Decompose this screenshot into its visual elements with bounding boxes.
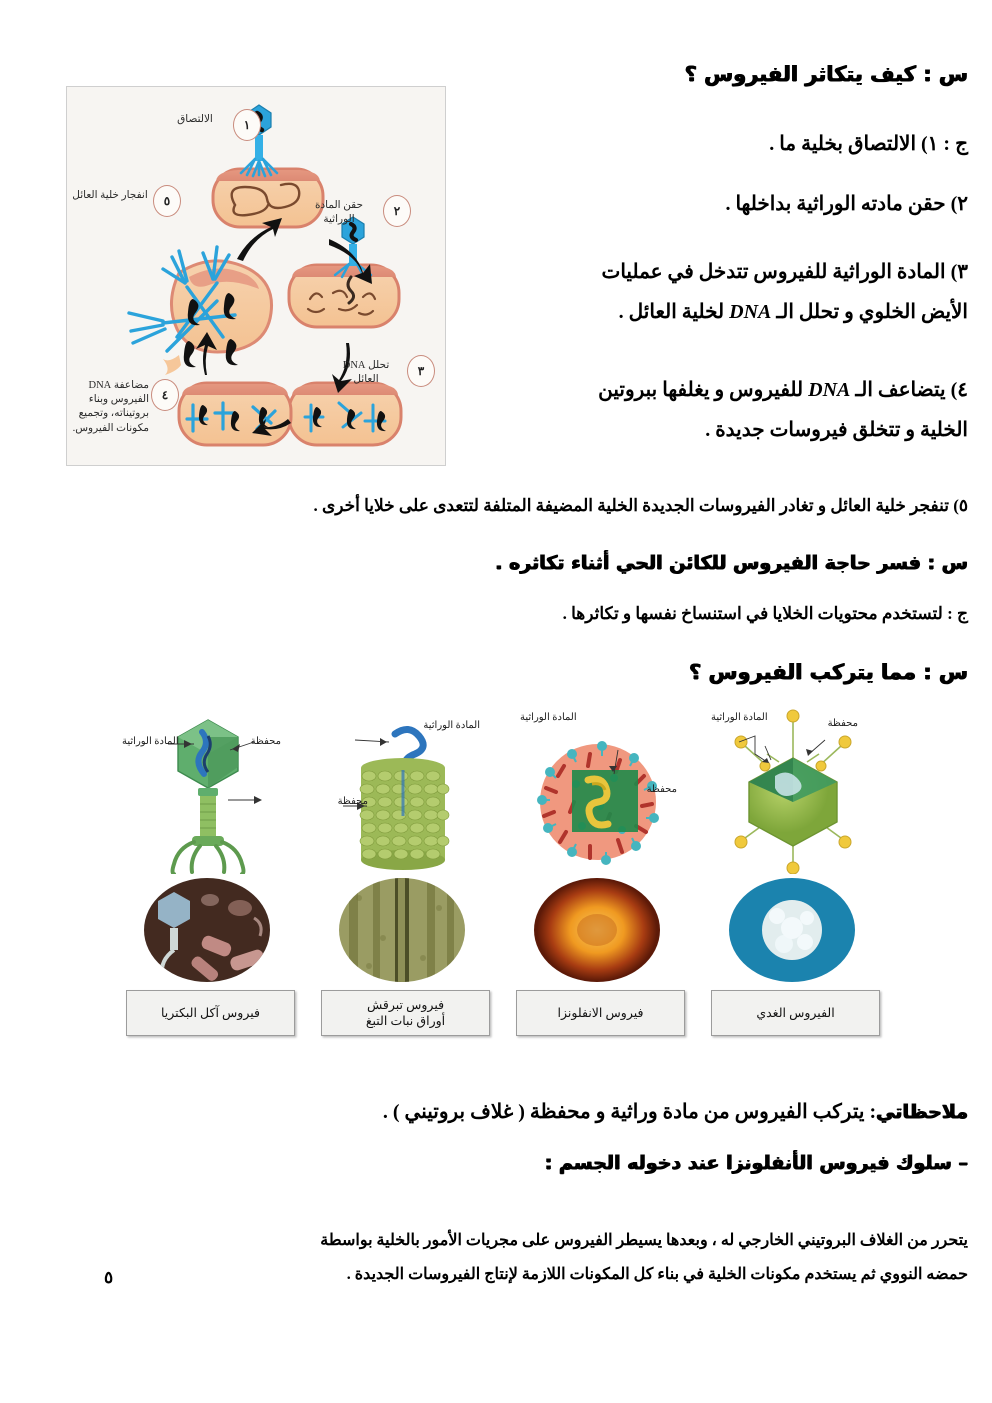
question-reproduction: س : كيف يتكاثر الفيروس ؟	[685, 62, 968, 86]
lytic-cycle-canvas: ١ الالتصاق ٢ حقن المادة الوراثية ٣ تحلل …	[67, 87, 445, 465]
stage-number-3: ٣	[407, 355, 435, 387]
question-need-host: س : فسر حاجة الفيروس للكائن الحي أثناء ت…	[495, 552, 968, 574]
stage-label-3: تحلل DNA العائل	[329, 359, 403, 387]
page-number: ٥	[104, 1268, 113, 1288]
stage-number-5: ٥	[153, 185, 181, 217]
bacteriophage-label-capsid: محفظة	[251, 736, 281, 747]
step4-line1-tail: للفيروس و يغلفها ببروتين	[598, 379, 808, 401]
influenza-photo-svg	[534, 878, 660, 982]
tmv-caption: فيروس تبرقش أوراق نبات التبغ	[321, 990, 490, 1036]
stage-label-4: مضاعفة DNA الفيروس وبناء بروتيناته، وتجم…	[69, 379, 149, 436]
step4-line1-head: ٤) يتضاعف الـ	[850, 379, 968, 401]
stage-label-2: حقن المادة الوراثية	[299, 199, 379, 227]
document-page: ١ الالتصاق ٢ حقن المادة الوراثية ٣ تحلل …	[0, 0, 992, 1403]
influenza-label-genetic: المادة الوراثية	[520, 712, 577, 723]
influenza-caption: فيروس الانفلونزا	[516, 990, 685, 1036]
answer-step-2: ٢) حقن مادته الوراثية بداخلها .	[725, 188, 968, 220]
influenza-label-capsid: محفظة	[647, 784, 677, 795]
stage4-cell	[179, 383, 291, 445]
note-row: ملاحظاتي: يتركب الفيروس من مادة وراثية و…	[383, 1096, 968, 1128]
bacteriophage-caption: فيروس آكل البكتريا	[126, 990, 295, 1036]
stage-number-4: ٤	[151, 379, 179, 411]
step3-line2-text: الأيض الخلوي و تحلل الـ	[771, 301, 968, 323]
adenovirus-caption: الفيروس الغدي	[711, 990, 880, 1036]
bacteriophage-label-genetic: المادة الوراثية	[122, 736, 179, 747]
influenza-line-1: يتحرر من الغلاف البروتيني الخارجي له ، و…	[320, 1228, 968, 1254]
virus-type-adenovirus: محفظة المادة الوراثية الفيروس الغدي	[705, 706, 880, 1036]
tmv-label-genetic: المادة الوراثية	[423, 720, 480, 731]
tmv-micrograph	[339, 878, 465, 982]
bacteriophage-micrograph	[144, 878, 270, 982]
figure-lytic-cycle: ١ الالتصاق ٢ حقن المادة الوراثية ٣ تحلل …	[66, 86, 446, 466]
dna-term-2: DNA	[808, 379, 850, 401]
answer-step-4-line1: ٤) يتضاعف الـ DNA للفيروس و يغلفها ببروت…	[598, 374, 968, 406]
virus-type-tobacco-mosaic: المادة الوراثية محفظة فيرو	[315, 706, 490, 1036]
tmv-label-capsid: محفظة	[338, 796, 368, 807]
stage3-cell	[289, 383, 401, 445]
answer-need-host: ج : لتستخدم محتويات الخلايا في استنساخ ن…	[563, 600, 968, 628]
bacteriophage-diagram	[120, 706, 295, 874]
dna-term: DNA	[729, 301, 771, 323]
question-composition: س : مما يتركب الفيروس ؟	[689, 660, 968, 684]
answer-step-1: ج : ١) الالتصاق بخلية ما .	[769, 128, 968, 160]
tmv-diagram	[315, 706, 490, 874]
adenovirus-micrograph	[729, 878, 855, 982]
stage-number-2: ٢	[383, 195, 411, 227]
note-label: ملاحظاتي	[876, 1101, 968, 1123]
bacteriophage-photo-svg	[144, 878, 270, 982]
stage5-cell	[129, 247, 272, 375]
adenovirus-photo-svg	[729, 878, 855, 982]
stage-number-1: ١	[233, 109, 261, 141]
adenovirus-label-genetic: المادة الوراثية	[711, 712, 768, 723]
virus-type-bacteriophage: محفظة المادة الوراثية	[120, 706, 295, 1036]
influenza-micrograph	[534, 878, 660, 982]
answer-step-5: ٥) تنفجر خلية العائل و تغادر الفيروسات ا…	[313, 492, 968, 520]
adenovirus-diagram	[705, 706, 880, 874]
tmv-photo-svg	[339, 878, 465, 982]
stage-label-1: الالتصاق	[163, 113, 227, 127]
step3-line2-tail: لخلية العائل .	[619, 301, 730, 323]
influenza-line-2: حمضه النووي ثم يستخدم مكونات الخلية في ب…	[347, 1262, 968, 1288]
answer-step-4-line2: الخلية و تتخلق فيروسات جديدة .	[705, 414, 968, 446]
adenovirus-label-capsid: محفظة	[828, 718, 858, 729]
note-text: : يتركب الفيروس من مادة وراثية و محفظة (…	[383, 1101, 876, 1123]
influenza-heading: – سلوك فيروس الأنفلونزا عند دخوله الجسم …	[545, 1152, 968, 1174]
stage-label-5: انفجار خلية العائل	[71, 189, 149, 203]
answer-step-3-line1: ٣) المادة الوراثية للفيروس تتدخل في عملي…	[601, 256, 968, 288]
figure-virus-types: محفظة المادة الوراثية الفيروس الغدي	[120, 706, 880, 1036]
answer-step-3-line2: الأيض الخلوي و تحلل الـ DNA لخلية العائل…	[619, 296, 968, 328]
virus-type-influenza: المادة الوراثية محفظة	[510, 706, 685, 1036]
